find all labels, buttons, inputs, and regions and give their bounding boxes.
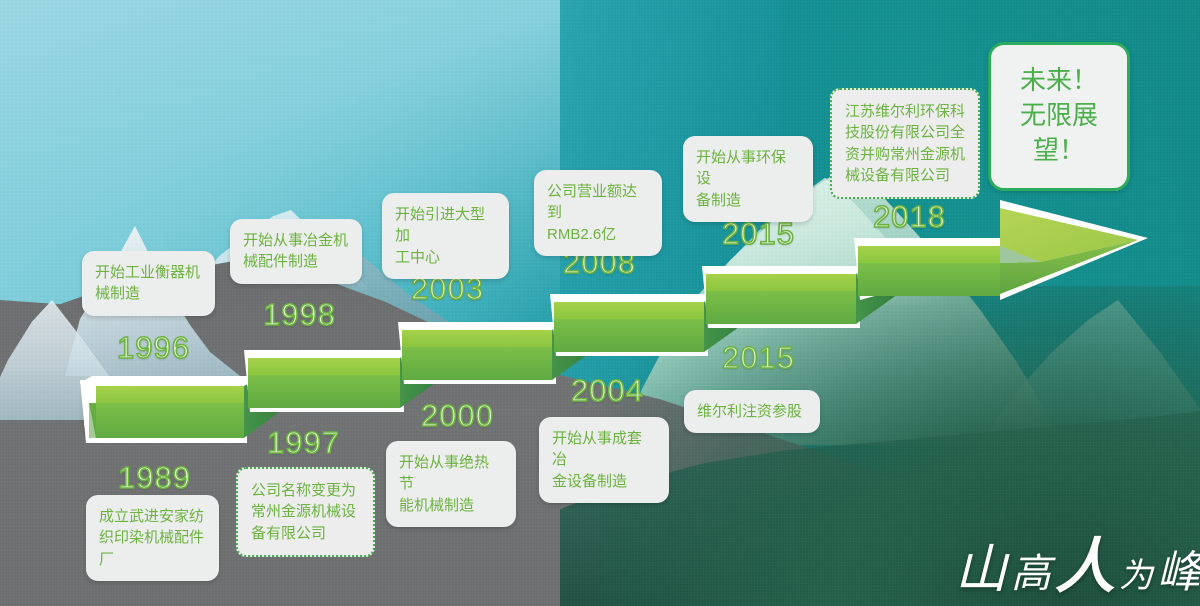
- callout-2004[interactable]: 开始从事成套冶 金设备制造: [539, 417, 669, 503]
- year-label-2015-lower: 2015: [722, 340, 795, 376]
- callout-1998[interactable]: 开始从事冶金机 械配件制造: [230, 219, 362, 284]
- calligraphy-char-5: 峰: [1157, 548, 1200, 597]
- callout-2015-upper[interactable]: 开始从事环保设 备制造: [683, 136, 813, 222]
- callout-2000[interactable]: 开始从事绝热节 能机械制造: [386, 441, 516, 527]
- year-label-2018: 2018: [873, 199, 946, 235]
- calligraphy-char-1: 山: [955, 542, 1011, 599]
- infographic-poster: 1989 1997 2000 2004 2015 1996 1998 2003 …: [0, 0, 1200, 606]
- year-label-1998: 1998: [263, 297, 336, 333]
- callout-1997[interactable]: 公司名称变更为 常州金源机械设 备有限公司: [236, 467, 375, 557]
- year-label-2000: 2000: [421, 398, 494, 434]
- year-label-1996: 1996: [117, 330, 190, 366]
- callout-1989[interactable]: 成立武进安家纺 织印染机械配件 厂: [86, 495, 219, 581]
- callout-2015-lower[interactable]: 维尔利注资参股: [684, 390, 820, 433]
- callout-2003[interactable]: 开始引进大型加 工中心: [382, 193, 509, 279]
- calligraphy-char-4: 为: [1119, 558, 1157, 595]
- calligraphy-slogan: 山高人为峰: [955, 518, 1200, 605]
- calligraphy-char-2: 高: [1011, 551, 1055, 596]
- year-label-2004: 2004: [571, 373, 644, 409]
- year-label-1997: 1997: [267, 425, 340, 461]
- callout-future[interactable]: 未来！ 无限展望！: [988, 42, 1130, 191]
- year-label-1989: 1989: [118, 460, 191, 496]
- calligraphy-char-3: 人: [1055, 534, 1119, 600]
- callout-2008[interactable]: 公司营业额达到 RMB2.6亿: [534, 170, 662, 256]
- callout-1996[interactable]: 开始工业衡器机 械制造: [82, 251, 215, 316]
- callout-2018[interactable]: 江苏维尔利环保科 技股份有限公司全 资并购常州金源机 械设备有限公司: [830, 88, 980, 199]
